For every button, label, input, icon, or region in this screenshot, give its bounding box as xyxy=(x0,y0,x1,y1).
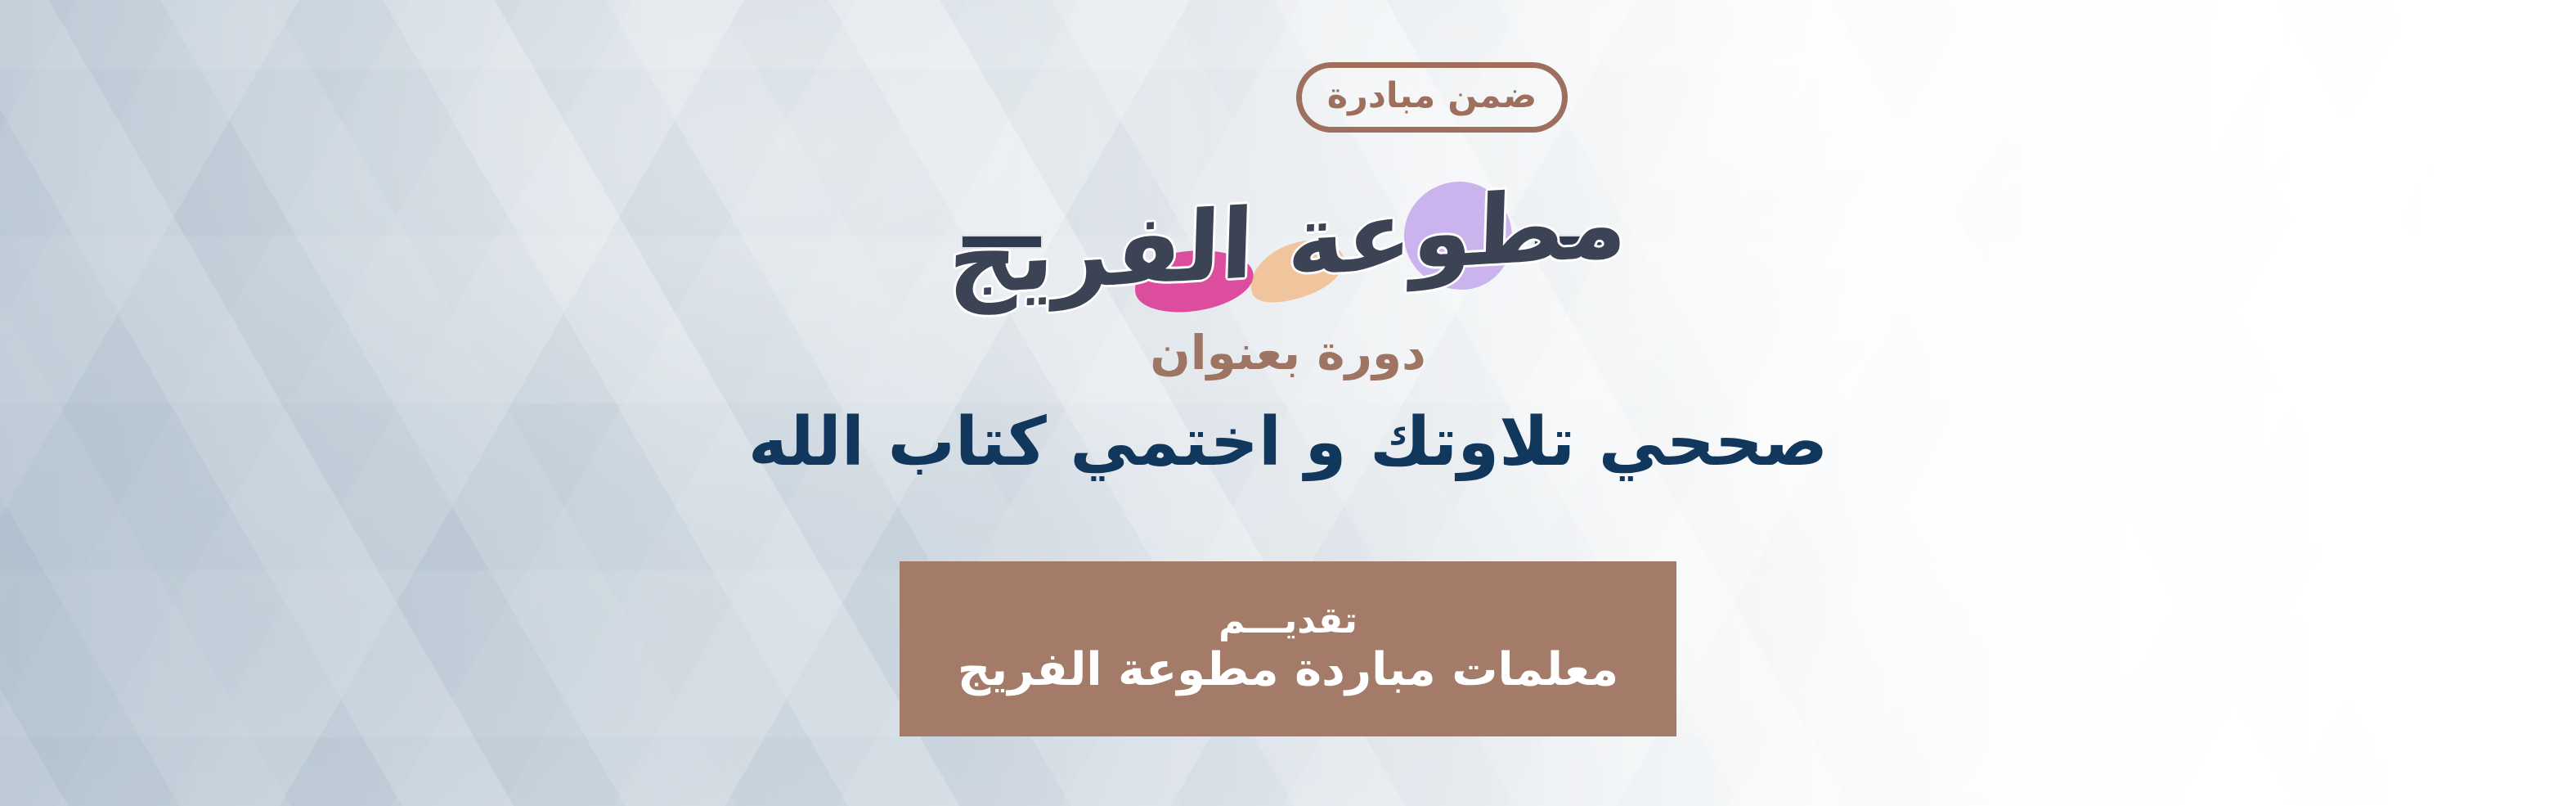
presenter-card: تقديـــم معلمات مباردة مطوعة الفريج xyxy=(900,561,1676,736)
initiative-logo: مطوعة الفريج xyxy=(0,147,2576,335)
initiative-badge: ضمن مبادرة xyxy=(1296,62,1568,133)
banner-content: ضمن مبادرة مطوعة الفريج دورة بعنوان صححي… xyxy=(0,0,2576,806)
presenter-name: معلمات مباردة مطوعة الفريج xyxy=(958,645,1618,696)
logo-wordmark: مطوعة الفريج xyxy=(1043,147,1533,335)
presenter-label: تقديـــم xyxy=(1218,602,1358,640)
course-title: صححي تلاوتك و اختمي كتاب الله xyxy=(0,404,2576,481)
course-eyebrow: دورة بعنوان xyxy=(0,329,2576,376)
logo-wordmark-text: مطوعة الفريج xyxy=(947,174,1629,308)
course-banner: ضمن مبادرة مطوعة الفريج دورة بعنوان صححي… xyxy=(0,0,2576,806)
initiative-badge-label: ضمن مبادرة xyxy=(1327,79,1537,114)
